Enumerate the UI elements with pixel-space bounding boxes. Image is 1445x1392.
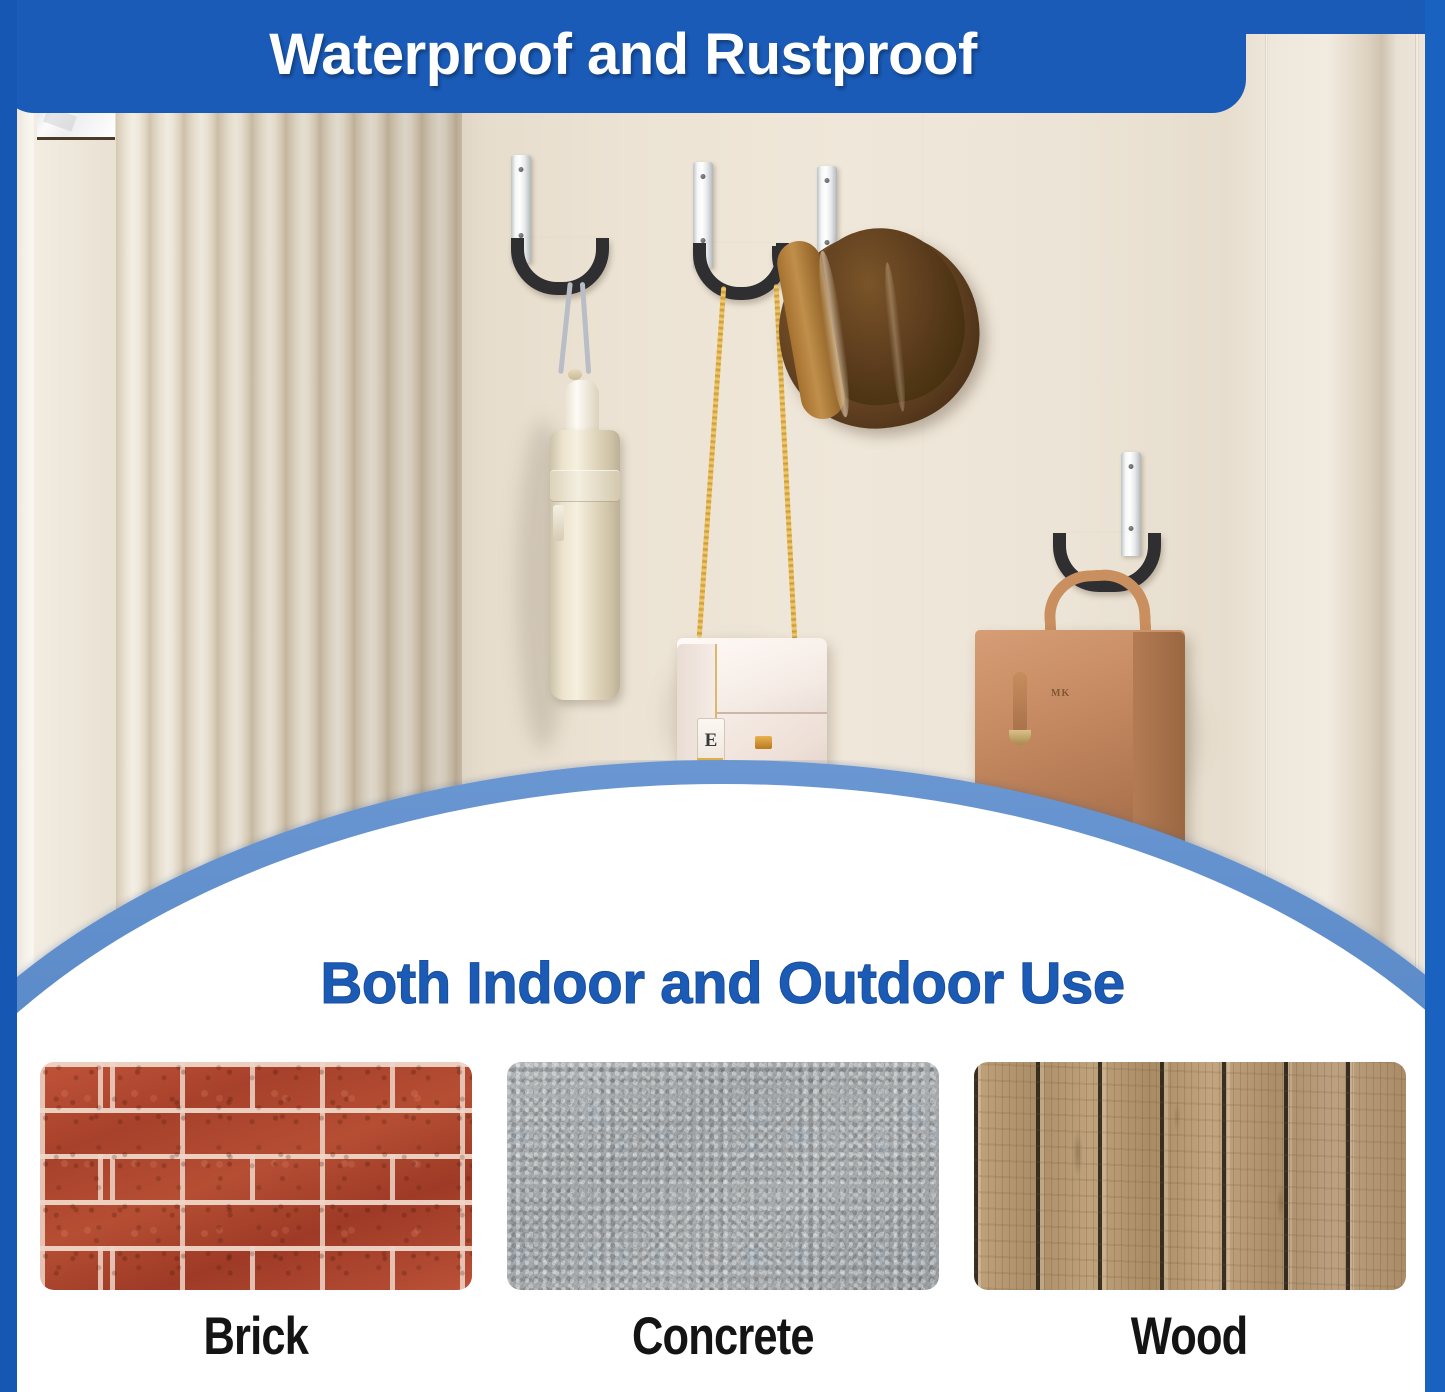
hook-screw	[1129, 526, 1134, 531]
tote-logo: MK	[1051, 688, 1070, 699]
material-list: Brick Concrete Wood	[0, 1062, 1445, 1392]
banner-title: Waterproof and Rustproof	[269, 26, 977, 84]
material-item-wood: Wood	[974, 1062, 1406, 1392]
product-photo: E MK	[17, 0, 1425, 1000]
hook-screw	[1129, 464, 1134, 469]
top-banner: Waterproof and Rustproof	[0, 0, 1246, 113]
product-infographic: E MK	[0, 0, 1445, 1392]
material-item-brick: Brick	[40, 1062, 472, 1392]
wood-swatch	[974, 1062, 1406, 1290]
wall-seam	[922, 0, 924, 1000]
wall-seam	[1265, 0, 1268, 1000]
material-item-concrete: Concrete	[507, 1062, 939, 1392]
hook-screw	[701, 174, 706, 179]
hook-screw	[519, 167, 524, 172]
hook-screw	[825, 178, 830, 183]
material-label: Wood	[1131, 1310, 1248, 1363]
frame-border-right-fade	[1425, 0, 1445, 1392]
brick-swatch	[40, 1062, 472, 1290]
concrete-swatch	[507, 1062, 939, 1290]
wall-seam	[1415, 0, 1419, 1000]
section-subtitle: Both Indoor and Outdoor Use	[0, 955, 1445, 1013]
material-label: Brick	[203, 1310, 308, 1363]
material-label: Concrete	[632, 1310, 814, 1363]
wall-panel-left	[34, 112, 116, 1000]
frame-border-left-fade	[0, 0, 17, 1392]
